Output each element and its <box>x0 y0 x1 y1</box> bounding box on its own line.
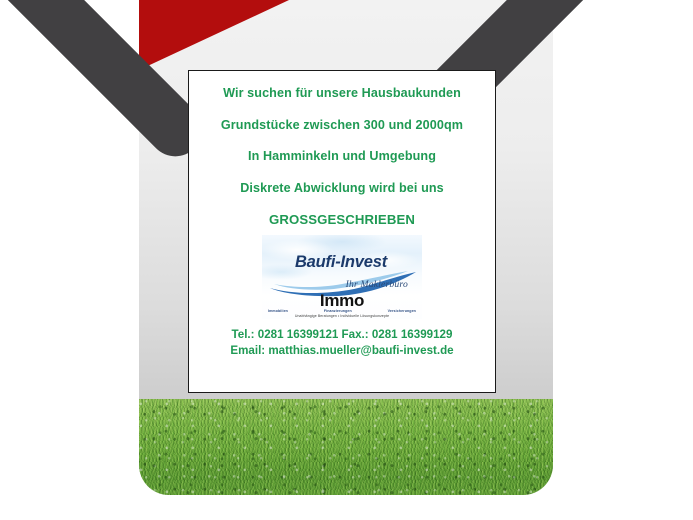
headline-line-3: In Hamminkeln und Umgebung <box>197 150 487 163</box>
logo-tagline-text: Ihr Maklerbüro <box>346 279 408 290</box>
logo-services-row: Immobilien Finanzierungen Versicherungen <box>268 309 416 313</box>
headline-line-4: Diskrete Abwicklung wird bei uns <box>197 182 487 195</box>
logo-service-3: Versicherungen <box>388 309 416 313</box>
logo-secondary-text: Immo <box>262 291 422 311</box>
company-logo: Baufi-Invest Ihr Maklerbüro Immo Immobil… <box>262 235 422 319</box>
flyer-card: Wir suchen für unsere Hausbaukunden Grun… <box>188 70 496 393</box>
headline-block: Wir suchen für unsere Hausbaukunden Grun… <box>197 87 487 227</box>
contact-phone-line: Tel.: 0281 16399121 Fax.: 0281 16399129 <box>197 327 487 344</box>
poster-canvas: Wir suchen für unsere Hausbaukunden Grun… <box>0 0 693 520</box>
contact-email-line: Email: matthias.mueller@baufi-invest.de <box>197 343 487 360</box>
red-gable-accent <box>139 0 289 70</box>
logo-service-1: Immobilien <box>268 309 288 313</box>
logo-service-2: Finanzierungen <box>324 309 352 313</box>
headline-line-5: GROSSGESCHRIEBEN <box>197 213 487 226</box>
headline-line-2: Grundstücke zwischen 300 und 2000qm <box>197 119 487 132</box>
logo-subline-text: Unabhängige Beratungen • Individuelle Lö… <box>262 314 422 318</box>
contact-block: Tel.: 0281 16399121 Fax.: 0281 16399129 … <box>197 327 487 361</box>
logo-brand-text: Baufi-Invest <box>262 253 420 272</box>
grass-lawn <box>139 399 553 495</box>
headline-line-1: Wir suchen für unsere Hausbaukunden <box>197 87 487 100</box>
